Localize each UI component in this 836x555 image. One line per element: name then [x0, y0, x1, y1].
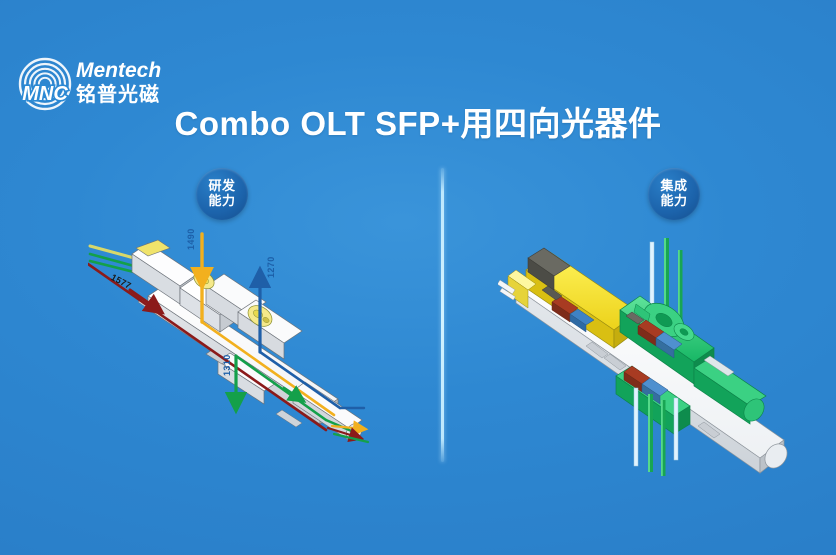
slide-root: MNC Mentech 铭普光磁 Combo OLT SFP+用四向光器件 研发…	[0, 0, 836, 555]
badge-rd-capability[interactable]: 研发 能力	[196, 168, 248, 220]
badge-rd-line1: 研发	[208, 179, 235, 194]
wavelength-label-1310: 1310	[222, 354, 232, 376]
wavelength-label-1490: 1490	[186, 228, 196, 250]
badge-int-line1: 集成	[660, 179, 687, 194]
mnc-wordmark: MNC	[22, 83, 68, 105]
vertical-divider	[441, 168, 444, 462]
integrated-assembly-render	[498, 228, 828, 478]
brand-name-cn: 铭普光磁	[76, 82, 188, 106]
optical-path-schematic	[88, 228, 398, 463]
brand-name-en: Mentech	[76, 59, 188, 82]
badge-rd-line2: 能力	[208, 194, 235, 209]
fiber-pigtails	[90, 246, 134, 272]
wavelength-label-1270: 1270	[266, 256, 276, 278]
badge-integration-capability[interactable]: 集成 能力	[648, 168, 700, 220]
badge-int-line2: 能力	[660, 194, 687, 209]
page-title: Combo OLT SFP+用四向光器件	[0, 104, 836, 144]
